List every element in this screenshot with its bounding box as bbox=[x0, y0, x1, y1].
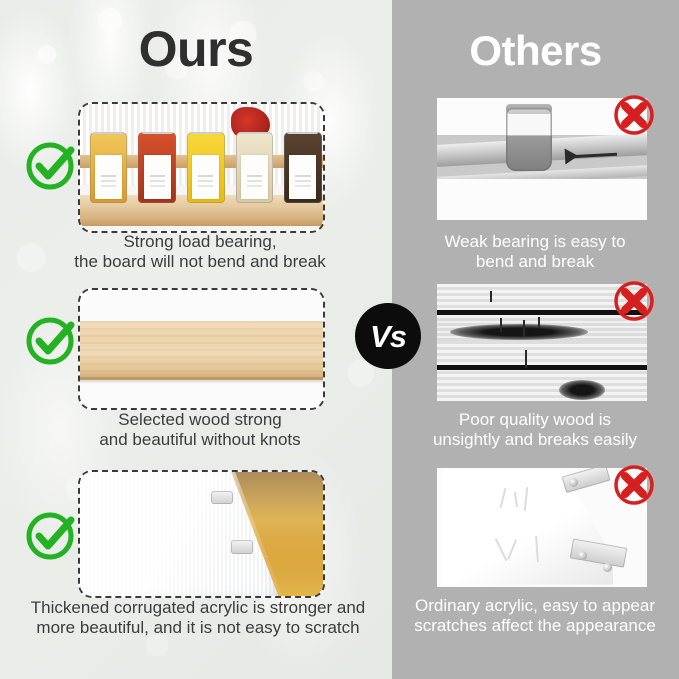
vs-badge: Vs bbox=[355, 303, 421, 369]
comparison-infographic: Ours Others Strong load bearing, the boa… bbox=[0, 0, 679, 679]
ours-load-bearing-caption: Strong load bearing, the board will not … bbox=[14, 232, 386, 272]
vs-badge-label: Vs bbox=[370, 321, 406, 352]
others-wood-quality-caption: Poor quality wood is unsightly and break… bbox=[398, 410, 672, 450]
ours-wood-quality-caption: Selected wood strong and beautiful witho… bbox=[14, 410, 386, 450]
others-heading: Others bbox=[392, 27, 679, 75]
ours-acrylic-caption: Thickened corrugated acrylic is stronger… bbox=[8, 598, 388, 638]
green-check-icon bbox=[24, 508, 78, 562]
red-cross-icon bbox=[612, 463, 656, 507]
red-cross-icon bbox=[612, 93, 656, 137]
green-check-icon bbox=[24, 313, 78, 367]
ours-load-bearing-photo bbox=[78, 102, 325, 233]
ours-heading: Ours bbox=[0, 20, 392, 78]
ours-wood-quality-photo bbox=[78, 288, 325, 410]
others-load-bearing-caption: Weak bearing is easy to bend and break bbox=[398, 232, 672, 272]
others-acrylic-caption: Ordinary acrylic, easy to appear scratch… bbox=[398, 596, 672, 636]
green-check-icon bbox=[24, 138, 78, 192]
red-cross-icon bbox=[612, 279, 656, 323]
ours-acrylic-photo bbox=[78, 470, 325, 598]
